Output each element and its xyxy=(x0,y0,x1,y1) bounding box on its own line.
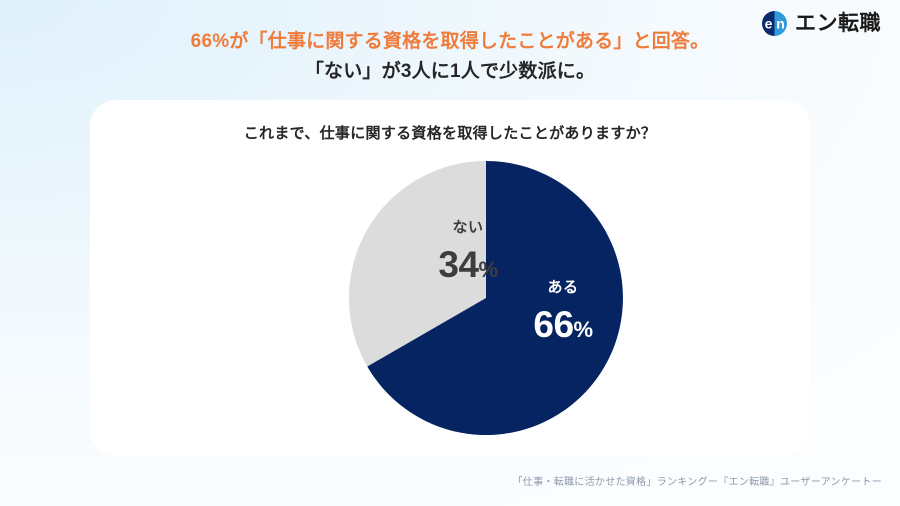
pie-label-nai-name: ない xyxy=(403,220,533,235)
pie-label-nai: ない 34% xyxy=(403,220,533,283)
chart-card: これまで、仕事に関する資格を取得したことがありますか？ ない 34% ある 66… xyxy=(90,100,810,456)
pie-label-aru-value: 66% xyxy=(498,306,628,343)
pie-label-aru-percent: % xyxy=(574,317,593,342)
poster-canvas: e n エン転職 66%が「仕事に関する資格を取得したことがある」と回答。 「な… xyxy=(0,0,900,506)
chart-title: これまで、仕事に関する資格を取得したことがありますか？ xyxy=(90,122,810,143)
pie-label-nai-value: 34% xyxy=(403,246,533,283)
headline-accent-rest: が「仕事に関する資格を取得したことがある」と回答。 xyxy=(229,31,709,52)
headline-accent-value: 66% xyxy=(191,31,230,52)
headline-line-2: 「ない」が3人に1人で少数派に。 xyxy=(0,57,900,87)
headline: 66%が「仕事に関する資格を取得したことがある」と回答。 「ない」が3人に1人で… xyxy=(0,27,900,87)
pie-label-aru-name: ある xyxy=(498,280,628,295)
pie-label-nai-percent: % xyxy=(479,257,498,282)
source-note: 「仕事・転職に活かせた資格」ランキングー『エン転職』ユーザーアンケートー xyxy=(513,473,883,488)
headline-line-1: 66%が「仕事に関する資格を取得したことがある」と回答。 xyxy=(0,27,900,57)
pie-label-aru: ある 66% xyxy=(498,280,628,343)
pie-chart: ない 34% ある 66% xyxy=(346,158,626,438)
